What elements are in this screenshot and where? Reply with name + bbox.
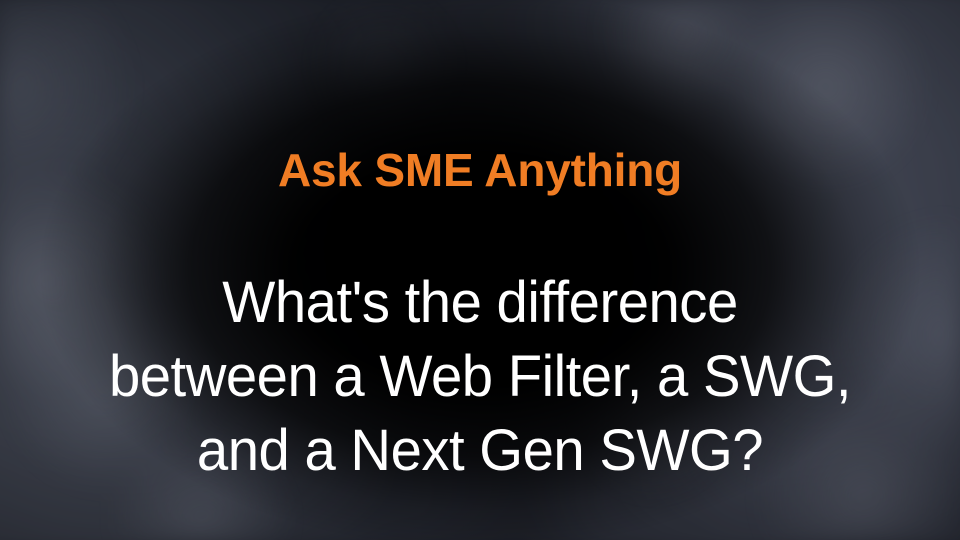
- question-line-2: between a Web Filter, a SWG,: [14, 340, 945, 414]
- slide-question: What's the difference between a Web Filt…: [14, 266, 945, 488]
- slide-canvas: Ask SME Anything What's the difference b…: [0, 0, 960, 540]
- question-line-3: and a Next Gen SWG?: [14, 414, 945, 488]
- slide-text-layer: Ask SME Anything What's the difference b…: [0, 0, 960, 540]
- question-line-1: What's the difference: [14, 266, 945, 340]
- slide-title: Ask SME Anything: [0, 147, 960, 193]
